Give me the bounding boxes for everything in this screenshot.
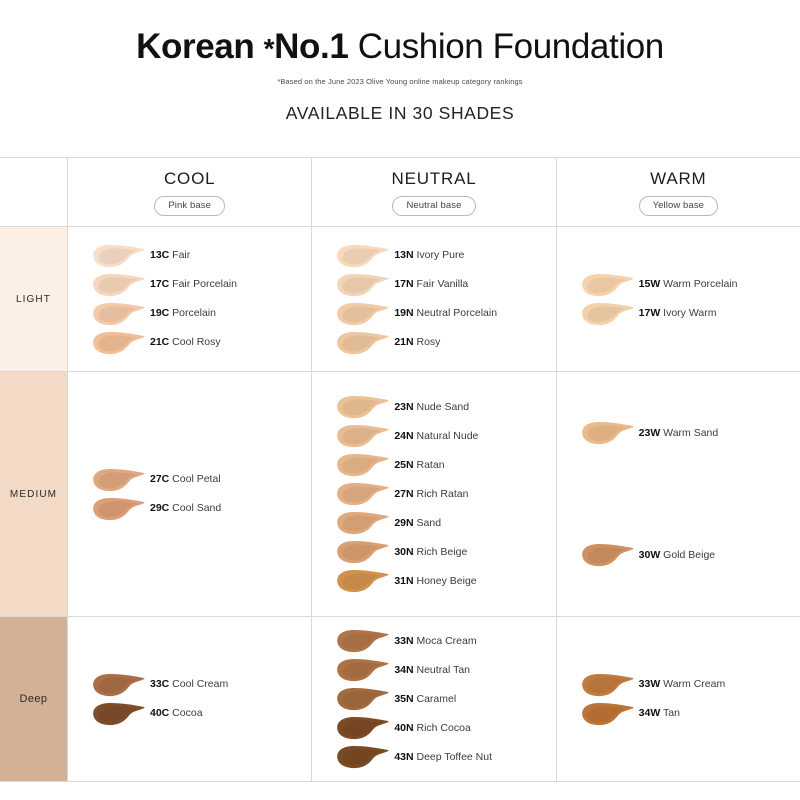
shade-code: 40C	[150, 707, 169, 719]
shade-code: 30N	[394, 546, 413, 558]
shade-label: 21N Rosy	[394, 336, 440, 349]
shade-swatch-23N	[334, 394, 390, 420]
shade-entry[interactable]: 34W Tan	[579, 699, 800, 728]
shade-label: 17W Ivory Warm	[639, 307, 717, 320]
shade-code: 17C	[150, 278, 169, 290]
shade-list: 33C Cool Cream40C Cocoa	[68, 617, 311, 781]
shade-entry[interactable]: 30W Gold Beige	[579, 541, 800, 570]
shade-name: Neutral Tan	[414, 664, 470, 676]
shade-label: 40C Cocoa	[150, 707, 203, 720]
shade-entry[interactable]: 27C Cool Petal	[90, 465, 311, 494]
shade-name: Gold Beige	[660, 549, 715, 561]
shade-swatch-13C	[90, 243, 146, 269]
shade-label: 33C Cool Cream	[150, 678, 228, 691]
shade-label: 31N Honey Beige	[394, 575, 476, 588]
shade-name: Moca Cream	[414, 635, 477, 647]
band-cell-warm: 23W Warm Sand30W Gold Beige	[557, 372, 800, 616]
shade-label: 13C Fair	[150, 249, 190, 262]
shade-label: 15W Warm Porcelain	[639, 278, 738, 291]
shade-entry[interactable]: 33N Moca Cream	[334, 627, 555, 656]
column-base-pill: Yellow base	[639, 196, 718, 216]
shade-swatch-19N	[334, 301, 390, 327]
shade-name: Warm Porcelain	[660, 278, 737, 290]
shade-swatch-17C	[90, 272, 146, 298]
shade-entry[interactable]: 33W Warm Cream	[579, 670, 800, 699]
shade-list: 23N Nude Sand24N Natural Nude25N Ratan27…	[312, 372, 555, 616]
band-cell-neutral: 33N Moca Cream34N Neutral Tan35N Caramel…	[312, 617, 556, 781]
shade-entry[interactable]: 19N Neutral Porcelain	[334, 299, 555, 328]
shade-swatch-17N	[334, 272, 390, 298]
band-cell-neutral: 13N Ivory Pure17N Fair Vanilla19N Neutra…	[312, 227, 556, 371]
shade-entry[interactable]: 29N Sand	[334, 509, 555, 538]
shade-entry[interactable]: 15W Warm Porcelain	[579, 270, 800, 299]
shade-name: Nude Sand	[414, 401, 469, 413]
column-header-cool: COOL Pink base	[68, 158, 312, 226]
shade-name: Ratan	[414, 459, 445, 471]
shade-entry[interactable]: 19C Porcelain	[90, 299, 311, 328]
shade-code: 21N	[394, 336, 413, 348]
band-row-light: LIGHT13C Fair17C Fair Porcelain19C Porce…	[0, 227, 800, 372]
shade-label: 34N Neutral Tan	[394, 664, 470, 677]
subtitle-shade-count: AVAILABLE IN 30 SHADES	[0, 103, 800, 124]
shade-swatch-43N	[334, 744, 390, 770]
shade-code: 34W	[639, 707, 661, 719]
shade-swatch-30N	[334, 539, 390, 565]
band-cell-neutral: 23N Nude Sand24N Natural Nude25N Ratan27…	[312, 372, 556, 616]
shade-name: Ivory Warm	[660, 307, 716, 319]
band-label: Deep	[20, 693, 48, 705]
shade-code: 15W	[639, 278, 661, 290]
column-base-pill: Pink base	[154, 196, 225, 216]
shade-name: Deep Toffee Nut	[414, 751, 492, 763]
shade-entry[interactable]: 30N Rich Beige	[334, 538, 555, 567]
shade-label: 25N Ratan	[394, 459, 444, 472]
band-label-cell: Deep	[0, 617, 68, 781]
shade-swatch-29N	[334, 510, 390, 536]
shade-entry[interactable]: 17W Ivory Warm	[579, 299, 800, 328]
shade-name: Ivory Pure	[414, 249, 465, 261]
shade-entry[interactable]: 40N Rich Cocoa	[334, 714, 555, 743]
shade-list: 27C Cool Petal29C Cool Sand	[68, 372, 311, 616]
shade-code: 23N	[394, 401, 413, 413]
shade-swatch-34N	[334, 657, 390, 683]
shade-swatch-17W	[579, 301, 635, 327]
shade-swatch-40C	[90, 701, 146, 727]
shade-name: Cocoa	[169, 707, 202, 719]
band-cell-warm: 15W Warm Porcelain17W Ivory Warm	[557, 227, 800, 371]
shade-code: 31N	[394, 575, 413, 587]
shade-name: Sand	[414, 517, 441, 529]
shade-swatch-33N	[334, 628, 390, 654]
shade-name: Warm Cream	[660, 678, 725, 690]
shade-label: 23N Nude Sand	[394, 401, 469, 414]
shade-name: Warm Sand	[660, 427, 718, 439]
shade-code: 33N	[394, 635, 413, 647]
shade-swatch-25N	[334, 452, 390, 478]
shade-code: 29N	[394, 517, 413, 529]
shade-name: Cool Rosy	[169, 336, 220, 348]
title-footnote: *Based on the June 2023 Olive Young onli…	[0, 77, 800, 87]
shade-name: Cool Sand	[169, 502, 221, 514]
shade-code: 13C	[150, 249, 169, 261]
shade-label: 29C Cool Sand	[150, 502, 221, 515]
column-base-pill: Neutral base	[392, 196, 475, 216]
band-cell-cool: 27C Cool Petal29C Cool Sand	[68, 372, 312, 616]
shade-label: 19C Porcelain	[150, 307, 216, 320]
shade-label: 30N Rich Beige	[394, 546, 467, 559]
shade-name: Neutral Porcelain	[414, 307, 497, 319]
shade-list: 33N Moca Cream34N Neutral Tan35N Caramel…	[312, 617, 555, 781]
page-title: Korean *No.1 Cushion Foundation	[0, 26, 800, 70]
column-header-neutral: NEUTRAL Neutral base	[312, 158, 556, 226]
matrix-body: LIGHT13C Fair17C Fair Porcelain19C Porce…	[0, 227, 800, 782]
shade-label: 40N Rich Cocoa	[394, 722, 470, 735]
column-header-warm: WARM Yellow base	[557, 158, 800, 226]
shade-swatch-33C	[90, 672, 146, 698]
shade-name: Porcelain	[169, 307, 216, 319]
shade-entry[interactable]: 25N Ratan	[334, 451, 555, 480]
band-row-medium: MEDIUM27C Cool Petal29C Cool Sand23N Nud…	[0, 372, 800, 617]
shade-label: 33N Moca Cream	[394, 635, 476, 648]
shade-swatch-35N	[334, 686, 390, 712]
title-product: Cushion Foundation	[358, 27, 664, 66]
shade-swatch-30W	[579, 542, 635, 568]
shade-swatch-21C	[90, 330, 146, 356]
shade-entry[interactable]: 23N Nude Sand	[334, 393, 555, 422]
shade-label: 27N Rich Ratan	[394, 488, 468, 501]
shade-code: 27N	[394, 488, 413, 500]
title-rank: No.1	[274, 27, 348, 66]
title-asterisk: *	[264, 33, 275, 64]
shade-name: Fair	[169, 249, 190, 261]
shade-label: 29N Sand	[394, 517, 441, 530]
shade-entry[interactable]: 40C Cocoa	[90, 699, 311, 728]
shade-entry[interactable]: 24N Natural Nude	[334, 422, 555, 451]
shade-label: 33W Warm Cream	[639, 678, 726, 691]
shade-code: 19C	[150, 307, 169, 319]
shade-list: 23W Warm Sand30W Gold Beige	[557, 372, 800, 616]
shade-label: 43N Deep Toffee Nut	[394, 751, 492, 764]
shade-entry[interactable]: 17N Fair Vanilla	[334, 270, 555, 299]
shade-code: 27C	[150, 473, 169, 485]
shade-label: 30W Gold Beige	[639, 549, 715, 562]
shade-swatch-19C	[90, 301, 146, 327]
shade-swatch-34W	[579, 701, 635, 727]
shade-name: Fair Vanilla	[414, 278, 469, 290]
shade-code: 24N	[394, 430, 413, 442]
shade-swatch-13N	[334, 243, 390, 269]
shade-chart-page: Korean *No.1 Cushion Foundation *Based o…	[0, 0, 800, 800]
shade-entry[interactable]: 17C Fair Porcelain	[90, 270, 311, 299]
shade-swatch-15W	[579, 272, 635, 298]
shade-swatch-29C	[90, 496, 146, 522]
shade-name: Tan	[660, 707, 680, 719]
band-row-deep: Deep33C Cool Cream40C Cocoa33N Moca Crea…	[0, 617, 800, 782]
shade-name: Cool Cream	[169, 678, 228, 690]
shade-entry[interactable]: 13N Ivory Pure	[334, 241, 555, 270]
shade-code: 33W	[639, 678, 661, 690]
column-title: NEUTRAL	[392, 169, 477, 189]
shade-entry[interactable]: 21C Cool Rosy	[90, 328, 311, 357]
band-cell-warm: 33W Warm Cream34W Tan	[557, 617, 800, 781]
shade-swatch-24N	[334, 423, 390, 449]
column-title: WARM	[650, 169, 706, 189]
shade-name: Rosy	[414, 336, 441, 348]
shade-code: 29C	[150, 502, 169, 514]
shade-code: 13N	[394, 249, 413, 261]
shade-name: Natural Nude	[414, 430, 479, 442]
shade-label: 17N Fair Vanilla	[394, 278, 468, 291]
shade-list: 13N Ivory Pure17N Fair Vanilla19N Neutra…	[312, 227, 555, 371]
shade-list: 13C Fair17C Fair Porcelain19C Porcelain2…	[68, 227, 311, 371]
shade-code: 23W	[639, 427, 661, 439]
shade-name: Cool Petal	[169, 473, 220, 485]
shade-swatch-27N	[334, 481, 390, 507]
title-brand-word: Korean	[136, 27, 254, 66]
shade-label: 23W Warm Sand	[639, 427, 719, 440]
shade-label: 21C Cool Rosy	[150, 336, 221, 349]
shade-entry[interactable]: 21N Rosy	[334, 328, 555, 357]
shade-swatch-40N	[334, 715, 390, 741]
band-cell-cool: 13C Fair17C Fair Porcelain19C Porcelain2…	[68, 227, 312, 371]
shade-entry[interactable]: 35N Caramel	[334, 685, 555, 714]
shade-matrix: COOL Pink base NEUTRAL Neutral base WARM…	[0, 157, 800, 782]
shade-swatch-21N	[334, 330, 390, 356]
shade-name: Honey Beige	[414, 575, 477, 587]
band-label: LIGHT	[16, 294, 51, 305]
shade-entry[interactable]: 13C Fair	[90, 241, 311, 270]
band-label: MEDIUM	[10, 489, 57, 500]
shade-code: 17W	[639, 307, 661, 319]
shade-label: 13N Ivory Pure	[394, 249, 464, 262]
shade-list: 15W Warm Porcelain17W Ivory Warm	[557, 227, 800, 371]
shade-label: 24N Natural Nude	[394, 430, 478, 443]
shade-name: Rich Beige	[414, 546, 468, 558]
shade-code: 19N	[394, 307, 413, 319]
column-title: COOL	[164, 169, 215, 189]
shade-entry[interactable]: 33C Cool Cream	[90, 670, 311, 699]
shade-list: 33W Warm Cream34W Tan	[557, 617, 800, 781]
shade-entry[interactable]: 31N Honey Beige	[334, 567, 555, 596]
band-cell-cool: 33C Cool Cream40C Cocoa	[68, 617, 312, 781]
band-label-cell: LIGHT	[0, 227, 68, 371]
shade-entry[interactable]: 23W Warm Sand	[579, 419, 800, 448]
matrix-corner-cell	[0, 158, 68, 226]
shade-label: 19N Neutral Porcelain	[394, 307, 497, 320]
page-header: Korean *No.1 Cushion Foundation *Based o…	[0, 0, 800, 124]
shade-code: 17N	[394, 278, 413, 290]
shade-code: 30W	[639, 549, 661, 561]
shade-swatch-33W	[579, 672, 635, 698]
shade-code: 40N	[394, 722, 413, 734]
shade-code: 35N	[394, 693, 413, 705]
shade-label: 17C Fair Porcelain	[150, 278, 237, 291]
shade-entry[interactable]: 34N Neutral Tan	[334, 656, 555, 685]
matrix-header-row: COOL Pink base NEUTRAL Neutral base WARM…	[0, 158, 800, 227]
shade-code: 33C	[150, 678, 169, 690]
shade-name: Rich Ratan	[414, 488, 469, 500]
shade-entry[interactable]: 29C Cool Sand	[90, 494, 311, 523]
shade-swatch-31N	[334, 568, 390, 594]
shade-name: Caramel	[414, 693, 457, 705]
shade-entry[interactable]: 27N Rich Ratan	[334, 480, 555, 509]
shade-entry[interactable]: 43N Deep Toffee Nut	[334, 743, 555, 772]
shade-code: 34N	[394, 664, 413, 676]
shade-code: 21C	[150, 336, 169, 348]
shade-code: 25N	[394, 459, 413, 471]
shade-label: 34W Tan	[639, 707, 680, 720]
band-label-cell: MEDIUM	[0, 372, 68, 616]
shade-code: 43N	[394, 751, 413, 763]
shade-name: Rich Cocoa	[414, 722, 471, 734]
shade-label: 35N Caramel	[394, 693, 456, 706]
shade-swatch-23W	[579, 420, 635, 446]
shade-label: 27C Cool Petal	[150, 473, 221, 486]
shade-name: Fair Porcelain	[169, 278, 237, 290]
shade-swatch-27C	[90, 467, 146, 493]
